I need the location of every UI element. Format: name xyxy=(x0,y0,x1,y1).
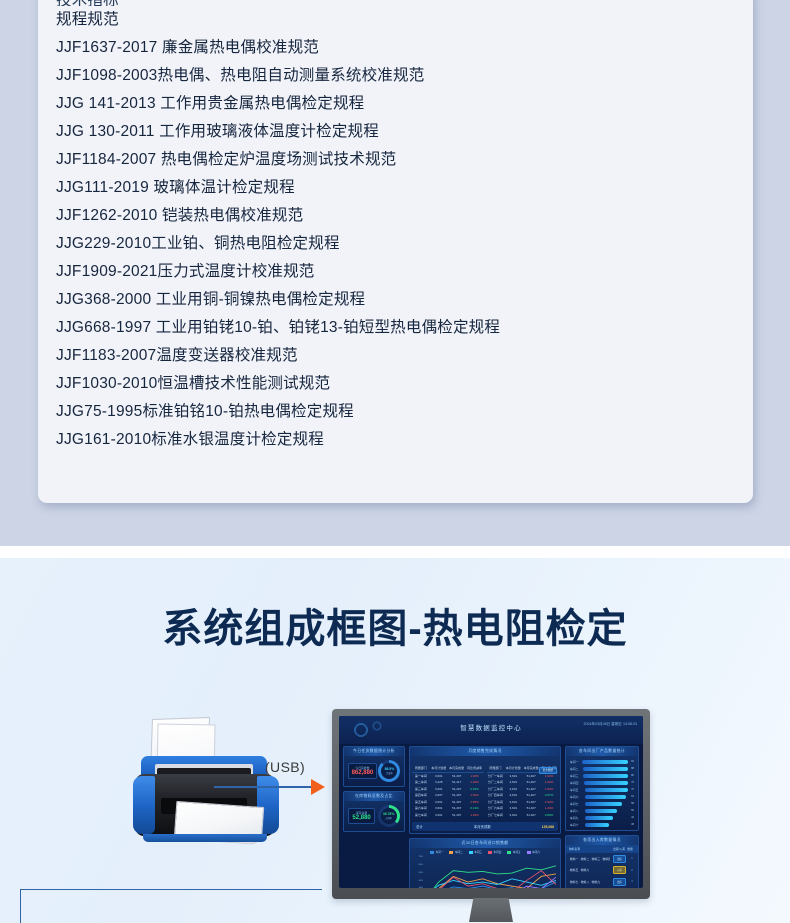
gauge-panel-2: 在库物料总数及占比 库存总量 52,880 36.78% 占用率 xyxy=(343,791,405,832)
inout-list-panel: 各项出入库数量情况 物料名称 出库/入库 数量 ·物料一 · 物料二 · 物料三… xyxy=(565,835,639,888)
printer-icon xyxy=(133,716,283,844)
line-chart-panel: 近30日各车间进口销售额 车间一 车间二 车间三 车间四 车间五 车间六 70%… xyxy=(409,838,561,888)
gauge-panel-1: 今日任务数据统计分析 今日完成数 862,880 88.5% 完成率 xyxy=(343,746,405,787)
bar-value: 80 xyxy=(631,774,634,777)
legend-item[interactable]: 车间三 xyxy=(469,850,482,854)
bar-value: 92 xyxy=(631,760,634,763)
gauge-panel-2-ring: 36.78% 占用率 xyxy=(378,805,400,827)
standard-item: JJF1098-2003热电偶、热电阻自动测量系统校准规范 xyxy=(56,62,753,90)
printer-side-left xyxy=(133,776,155,834)
y-tick: 30% xyxy=(411,887,423,888)
legend-item[interactable]: 车间六 xyxy=(527,850,540,854)
list-item-count: 3 xyxy=(629,880,635,883)
monitor-stand xyxy=(469,898,513,922)
bar-row: 车间二88 xyxy=(566,765,638,772)
gauge-panel-1-number-value: 862,880 xyxy=(352,770,374,776)
sales-table-left: 所属部门 本月计划量 本月完成量 同比增减率 第一车间3,60151,4071.… xyxy=(412,765,484,818)
th: 本月计划量 xyxy=(504,765,522,772)
monitor-screen: 智慧数据监控中心 2024年03月08日 星期五 13:58:23 今日任务数据… xyxy=(339,716,643,888)
standard-item: JJF1637-2017 廉金属热电偶校准规范 xyxy=(56,34,753,62)
status-badge: 出库 xyxy=(613,878,626,886)
dashboard-title: 智慧数据监控中心 xyxy=(460,722,522,732)
usb-connection-line xyxy=(214,786,314,788)
bar-label: 车间十 xyxy=(570,823,582,827)
standard-item: JJG229-2010工业铂、铜热电阻检定规程 xyxy=(56,230,753,258)
td: 51,407 xyxy=(448,812,466,819)
page-title: 系统组成框图-热电阻检定 xyxy=(0,596,790,654)
line-chart-svg xyxy=(424,856,556,888)
standard-item: JJG668-1997 工业用铂铑10-铂、铂铑13-铂短型热电偶检定规程 xyxy=(56,314,753,342)
bar-value: 50 xyxy=(631,809,634,812)
standard-item: JJF1183-2007温度变送器校准规范 xyxy=(56,342,753,370)
bar-label: 车间八 xyxy=(570,809,582,813)
bars-panel: 各车间出厂产品数量统计 车间一92 车间二88 车间三80 车间四75 车间五7… xyxy=(565,746,639,831)
sales-total-label: 总计 xyxy=(416,824,423,829)
bar-row: 车间五70 xyxy=(566,786,638,793)
th: 出库/入库 xyxy=(613,847,625,851)
th: 物料名称 xyxy=(569,847,613,851)
table-header-row: 所属部门 本月计划量 本月完成量 同比增减率 xyxy=(412,765,484,773)
list-item-count: 1 xyxy=(629,857,635,860)
standard-item: JJF1262-2010 铠装热电偶校准规范 xyxy=(56,202,753,230)
sales-total-value: 125,068 xyxy=(542,825,554,829)
legend-item[interactable]: 车间一 xyxy=(430,850,443,854)
td: 第七车间 xyxy=(412,812,430,819)
y-tick: 40% xyxy=(411,880,423,882)
bar-value: 58 xyxy=(631,802,634,805)
bar-value: 88 xyxy=(631,767,634,770)
standard-item: JJF1030-2010恒温槽技术性能测试规范 xyxy=(56,370,753,398)
td: 3,601 xyxy=(504,812,522,819)
more-data-button[interactable]: 更多数据 xyxy=(539,767,557,774)
bar-value: 75 xyxy=(631,781,634,784)
inout-list-columns: 物料名称 出库/入库 数量 xyxy=(566,845,638,853)
th: 同比增减率 xyxy=(466,765,484,772)
bar-label: 车间二 xyxy=(570,767,580,771)
dashboard-left-column: 今日任务数据统计分析 今日完成数 862,880 88.5% 完成率 xyxy=(343,746,405,884)
gauge-panel-2-header: 在库物料总数及占比 xyxy=(344,792,404,801)
gauge-panel-1-number: 今日完成数 862,880 xyxy=(348,763,378,779)
gauge-panel-2-number-value: 52,880 xyxy=(352,815,370,821)
section-divider xyxy=(0,546,790,558)
monitor-bezel: 智慧数据监控中心 2024年03月08日 星期五 13:58:23 今日任务数据… xyxy=(332,709,650,899)
bar-value: 44 xyxy=(631,816,634,819)
gear-decoration-icon xyxy=(347,718,387,742)
bar-label: 车间九 xyxy=(570,816,582,820)
standard-item: JJG111-2019 玻璃体温计检定规程 xyxy=(56,174,753,202)
gauge-panel-1-ring-label: 完成率 xyxy=(386,771,393,775)
bars-panel-header: 各车间出厂产品数量统计 xyxy=(566,747,638,756)
td: 3,601 xyxy=(430,812,448,819)
th: 本月计划量 xyxy=(430,765,448,772)
bar-label: 车间六 xyxy=(570,795,582,799)
gauge-panel-2-ring-label: 占用率 xyxy=(385,816,392,820)
standard-item: JJG 130-2011 工作用玻璃液体温度计检定规程 xyxy=(56,118,753,146)
legend-label: 车间一 xyxy=(436,851,444,854)
standards-card: 技术指标 规程规范 JJF1637-2017 廉金属热电偶校准规范 JJF109… xyxy=(38,0,753,503)
line-chart-y-axis: 70% 60% 50% 40% 30% 20% 10% 0 xyxy=(411,856,423,888)
status-badge: 出库 xyxy=(613,855,626,863)
table-row[interactable]: 第七车间3,60151,4071.92% xyxy=(412,812,484,819)
td: 分厂七车间 xyxy=(487,812,505,819)
standard-item: JJF1909-2021压力式温度计校准规范 xyxy=(56,258,753,286)
printer-base xyxy=(143,834,267,842)
bar-label: 车间七 xyxy=(570,802,582,806)
bar-value: 64 xyxy=(631,795,634,798)
table-row[interactable]: 分厂七车间3,60151,4070.89% xyxy=(487,812,559,819)
bar-label: 车间三 xyxy=(570,774,580,778)
bar-row: 车间九44 xyxy=(566,814,638,821)
sales-table-panel: 月度销售完成情况 更多数据 所属部门 本月计划量 本月完成量 同比增减率 xyxy=(409,746,561,834)
legend-item[interactable]: 车间五 xyxy=(507,850,520,854)
list-item-label: ·物料七 · 物料八 · 物料九 xyxy=(569,880,610,884)
bar-row: 车间一92 xyxy=(566,758,638,765)
list-item[interactable]: ·物料一 · 物料二 · 物料三 · 物料四出库1 xyxy=(566,853,638,865)
legend-label: 车间二 xyxy=(455,851,463,854)
bar-row: 车间八50 xyxy=(566,807,638,814)
bar-value: 38 xyxy=(631,823,634,826)
y-tick: 50% xyxy=(411,872,423,874)
dashboard-header: 智慧数据监控中心 2024年03月08日 星期五 13:58:23 xyxy=(339,716,643,744)
td: 0.89% xyxy=(540,812,558,819)
gauge-panel-1-header: 今日任务数据统计分析 xyxy=(344,747,404,756)
list-item-label: ·物料一 · 物料二 · 物料三 · 物料四 xyxy=(569,857,610,861)
y-tick: 60% xyxy=(411,864,423,866)
th: 所属部门 xyxy=(412,765,430,772)
bar-row: 车间四75 xyxy=(566,779,638,786)
bar-label: 车间四 xyxy=(570,781,581,785)
list-item-label: ·物料五 · 物料六 xyxy=(569,868,610,872)
bar-label: 车间一 xyxy=(570,760,579,764)
bar-row: 车间七58 xyxy=(566,800,638,807)
th: 本月完成量 xyxy=(448,765,466,772)
legend-label: 车间五 xyxy=(513,851,521,854)
dashboard-clock: 2024年03月08日 星期五 13:58:23 xyxy=(583,722,637,727)
legend-label: 车间六 xyxy=(532,851,540,854)
monitor-icon: 智慧数据监控中心 2024年03月08日 星期五 13:58:23 今日任务数据… xyxy=(332,709,650,923)
diagram-frame-box xyxy=(20,889,322,923)
arrow-right-icon xyxy=(311,779,325,795)
list-item[interactable]: ·物料七 · 物料八 · 物料九出库3 xyxy=(566,876,638,888)
line-chart-legend: 车间一 车间二 车间三 车间四 车间五 车间六 xyxy=(410,848,560,856)
list-item[interactable]: ·物料五 · 物料六入库2 xyxy=(566,865,638,877)
gauge-panel-2-number: 库存总量 52,880 xyxy=(348,808,374,824)
standard-item: JJF1184-2007 热电偶检定炉温度场测试技术规范 xyxy=(56,146,753,174)
legend-item[interactable]: 车间四 xyxy=(488,850,501,854)
standard-item: JJG 141-2013 工作用贵金属热电偶检定规程 xyxy=(56,90,753,118)
bar-row: 车间三80 xyxy=(566,772,638,779)
sales-total-sub: 本月完成数 xyxy=(474,824,491,829)
standards-heading: 规程规范 xyxy=(56,6,753,34)
page-root: 技术指标 规程规范 JJF1637-2017 廉金属热电偶校准规范 JJF109… xyxy=(0,0,790,923)
y-tick: 70% xyxy=(411,856,423,858)
gauge-panel-1-ring: 88.5% 完成率 xyxy=(378,760,400,782)
list-item-count: 2 xyxy=(629,869,635,872)
th: 数量 xyxy=(625,847,635,851)
bar-label: 车间五 xyxy=(570,788,582,792)
standard-item: JJG161-2010标准水银温度计检定规程 xyxy=(56,426,753,454)
legend-item[interactable]: 车间二 xyxy=(449,850,462,854)
dashboard-middle-column: 月度销售完成情况 更多数据 所属部门 本月计划量 本月完成量 同比增减率 xyxy=(409,746,561,884)
legend-label: 车间四 xyxy=(494,851,502,854)
usb-label: (USB) xyxy=(265,759,305,775)
sales-table-header: 月度销售完成情况 xyxy=(410,747,560,756)
td: 51,407 xyxy=(522,812,540,819)
dashboard-right-column: 各车间出厂产品数量统计 车间一92 车间二88 车间三80 车间四75 车间五7… xyxy=(565,746,639,884)
status-badge: 入库 xyxy=(613,866,626,874)
standards-list: 技术指标 规程规范 JJF1637-2017 廉金属热电偶校准规范 JJF109… xyxy=(38,0,753,454)
standard-item: JJG75-1995标准铂铭10-铂热电偶检定规程 xyxy=(56,398,753,426)
bar-row: 车间十38 xyxy=(566,821,638,828)
standard-item: JJG368-2000 工业用铜-铜镍热电偶检定规程 xyxy=(56,286,753,314)
th: 本月完成量 xyxy=(522,765,540,772)
th: 所属部门 xyxy=(487,765,505,772)
line-chart-plot-area xyxy=(424,856,556,888)
sales-total-row: 总计 本月完成数 125,068 xyxy=(412,822,558,831)
bar-value: 70 xyxy=(631,788,634,791)
td: 1.92% xyxy=(466,812,484,819)
legend-label: 车间三 xyxy=(474,851,482,854)
inout-list-header: 各项出入库数量情况 xyxy=(566,836,638,845)
standards-section: 技术指标 规程规范 JJF1637-2017 廉金属热电偶校准规范 JJF109… xyxy=(0,0,790,546)
bar-row: 车间六64 xyxy=(566,793,638,800)
bars-list: 车间一92 车间二88 车间三80 车间四75 车间五70 车间六64 车间七5… xyxy=(566,756,638,830)
line-chart-title: 近30日各车间进口销售额 xyxy=(410,839,560,848)
